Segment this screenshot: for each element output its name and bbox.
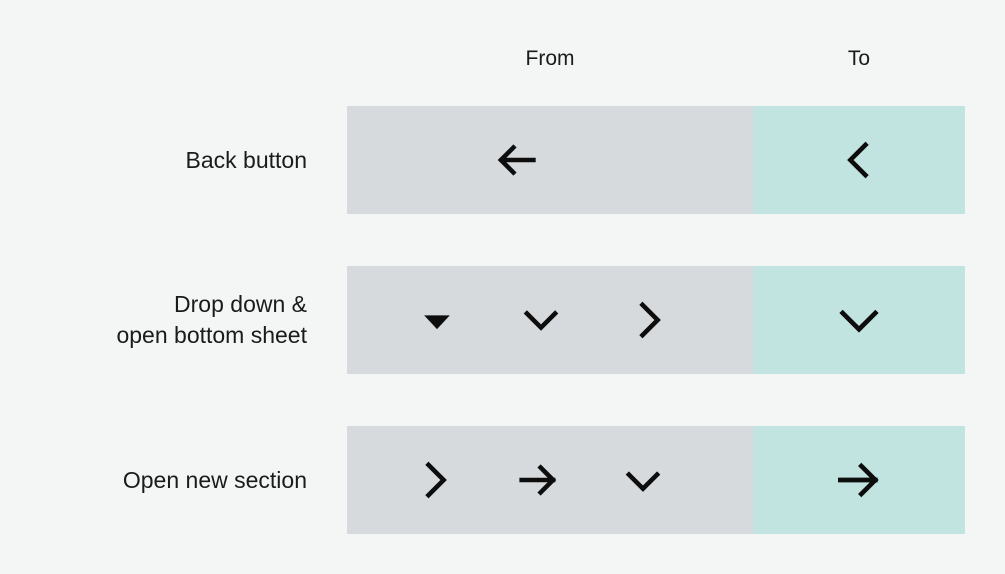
table-row bbox=[347, 426, 965, 534]
chevron-down-icon bbox=[515, 294, 567, 346]
arrow-right-icon bbox=[513, 454, 565, 506]
icon-comparison-board: From To Back button Drop down & open bot… bbox=[0, 0, 1005, 574]
row-label-slot-back-button: Back button bbox=[0, 106, 307, 214]
arrow-left-icon bbox=[489, 134, 541, 186]
row-label-slot-open-new-section: Open new section bbox=[0, 426, 307, 534]
row-label-slot-drop-down: Drop down & open bottom sheet bbox=[0, 266, 307, 374]
column-header-from: From bbox=[347, 48, 753, 69]
from-cell bbox=[347, 266, 753, 374]
chevron-right-icon bbox=[409, 454, 461, 506]
row-label: Back button bbox=[0, 145, 307, 176]
from-cell bbox=[347, 426, 753, 534]
column-header-to: To bbox=[753, 48, 965, 69]
triangle-down-filled-icon bbox=[415, 298, 459, 342]
chevron-left-icon bbox=[833, 134, 885, 186]
to-cell bbox=[753, 426, 965, 534]
row-label: Drop down & open bottom sheet bbox=[0, 289, 307, 351]
to-cell bbox=[753, 106, 965, 214]
table-row bbox=[347, 106, 965, 214]
chevron-down-icon bbox=[617, 454, 669, 506]
chevron-down-icon bbox=[831, 292, 887, 348]
from-cell bbox=[347, 106, 753, 214]
arrow-right-icon bbox=[831, 452, 887, 508]
row-label: Open new section bbox=[0, 465, 307, 496]
to-cell bbox=[753, 266, 965, 374]
table-row bbox=[347, 266, 965, 374]
chevron-right-icon bbox=[623, 294, 675, 346]
